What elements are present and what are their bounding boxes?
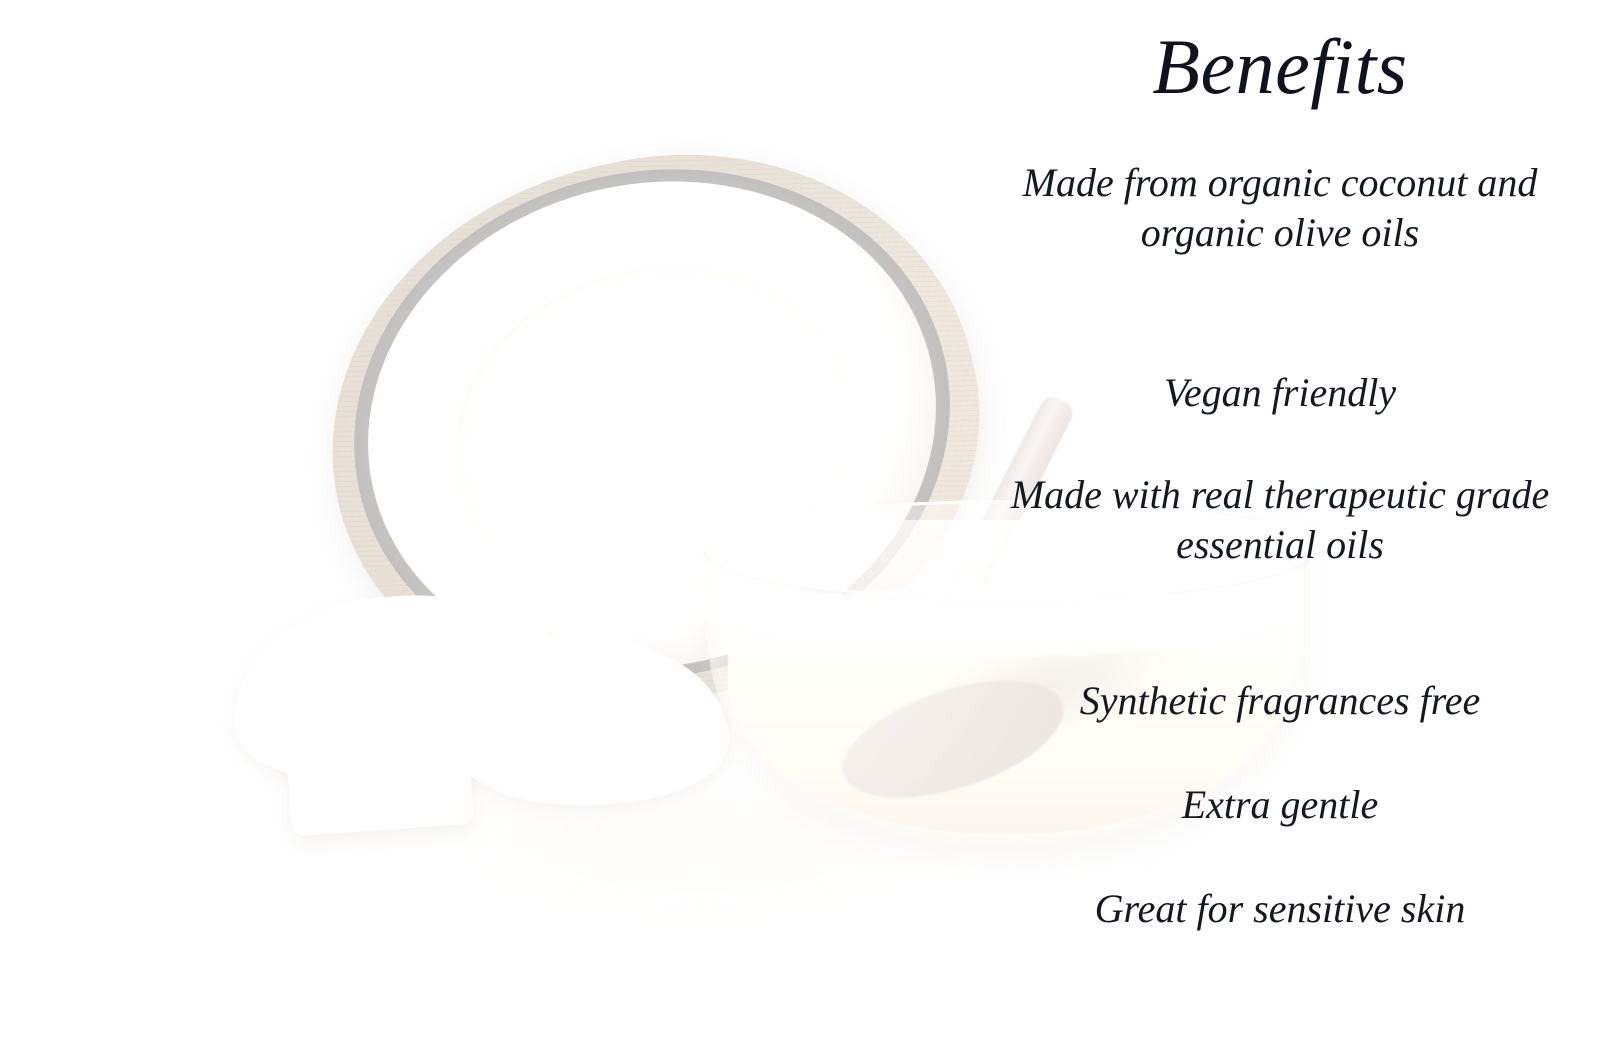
- coconut-chunk: [423, 623, 737, 818]
- coconut-flesh: [319, 126, 985, 724]
- benefit-item-4: Synthetic fragrances free: [990, 676, 1570, 726]
- coconut-husk: [278, 94, 1033, 766]
- benefits-slide: Benefits Made from organic coconut and o…: [0, 0, 1600, 1056]
- coconut-chunk: [284, 712, 473, 836]
- benefit-item-5: Extra gentle: [990, 780, 1570, 830]
- coconut-husk-fibers: [278, 94, 1033, 766]
- benefit-item-3: Made with real therapeutic grade essenti…: [990, 470, 1570, 571]
- benefit-item-6: Great for sensitive skin: [990, 884, 1570, 934]
- page-title: Benefits: [980, 26, 1580, 108]
- coconut-chunk: [222, 577, 573, 806]
- benefits-text-column: Benefits Made from organic coconut and o…: [980, 0, 1580, 1056]
- coconut-flesh-hollow: [416, 222, 888, 644]
- benefit-item-2: Vegan friendly: [990, 368, 1570, 418]
- benefit-item-1: Made from organic coconut and organic ol…: [990, 158, 1570, 259]
- coconut-shell-rim: [303, 111, 1001, 738]
